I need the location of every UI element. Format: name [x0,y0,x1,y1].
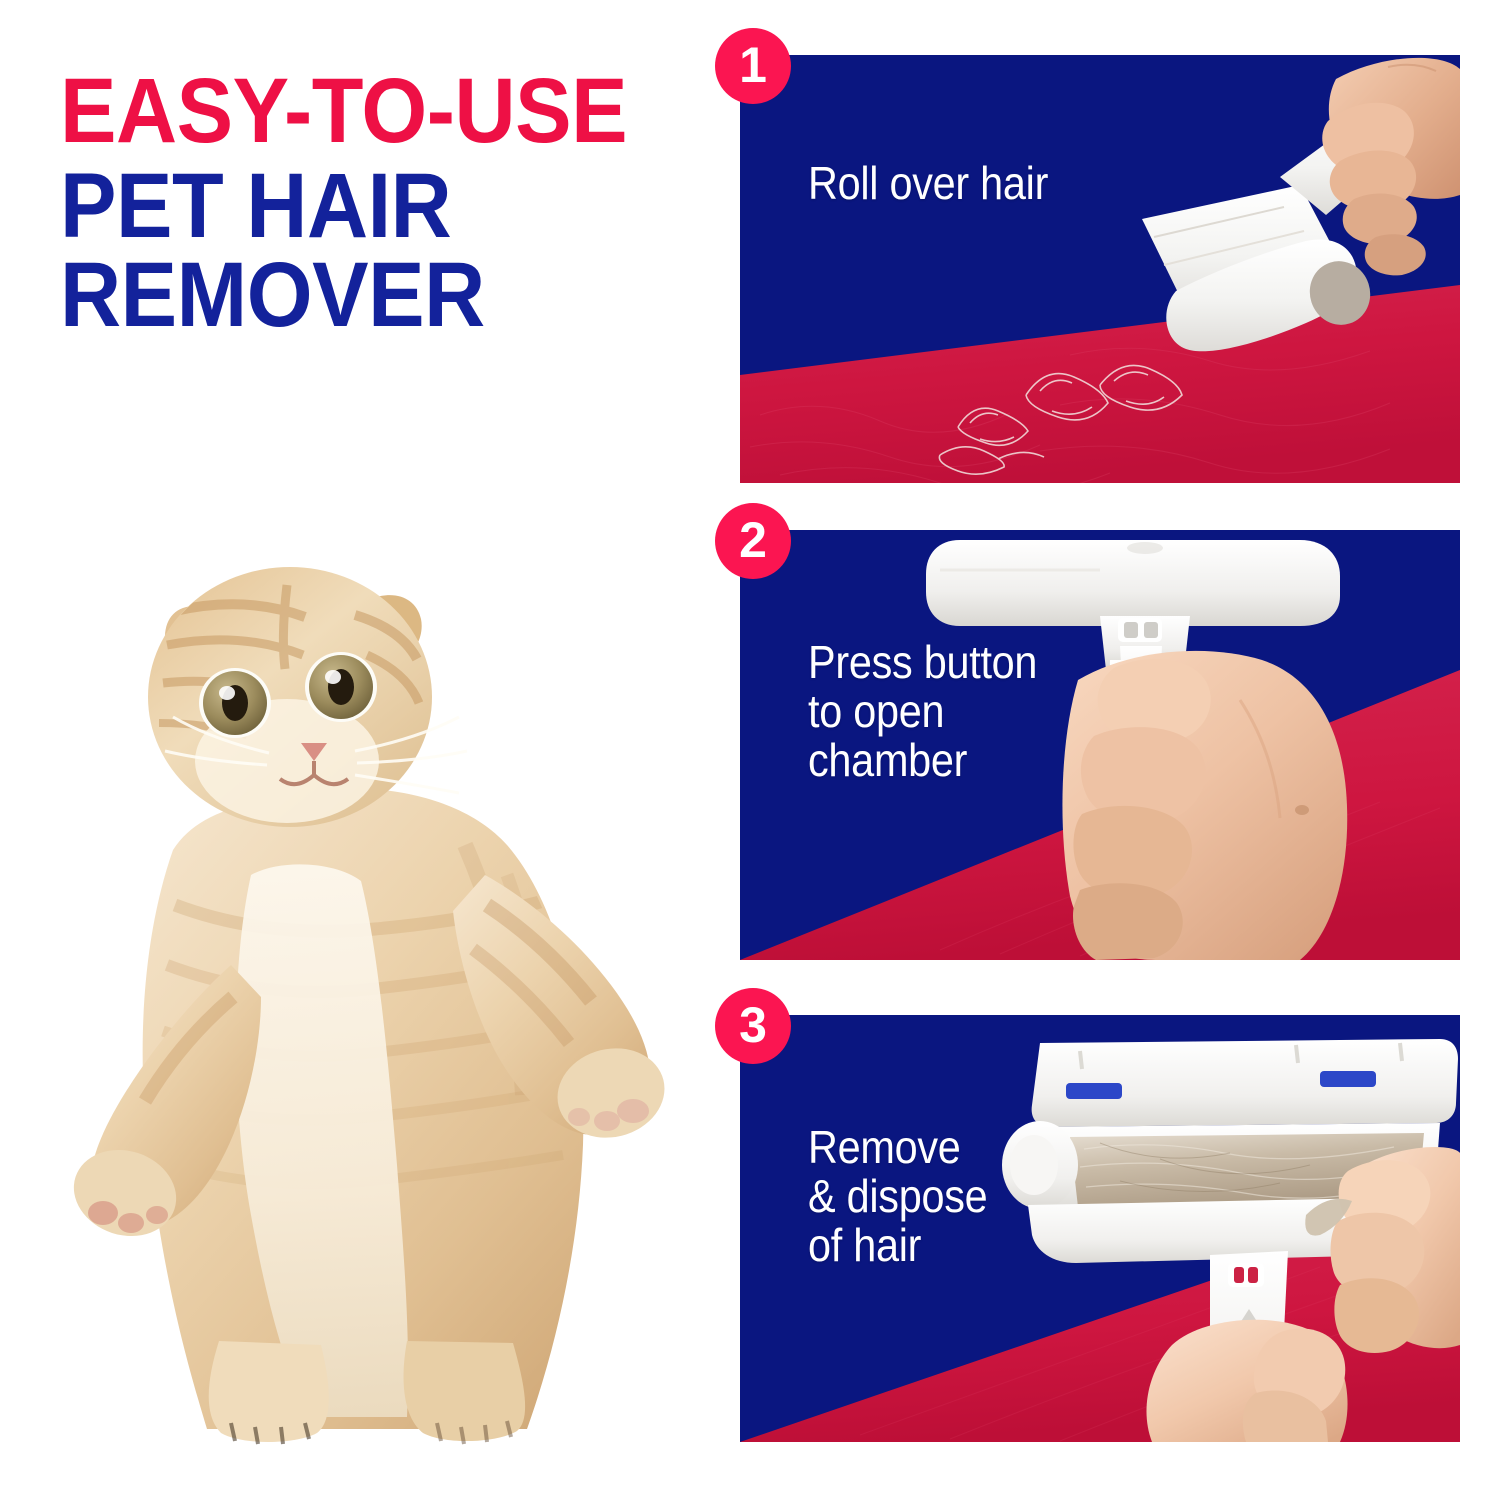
step-3-label: Remove & dispose of hair [808,1123,987,1269]
step-2-number-badge: 2 [715,503,791,579]
headline-line-easy-to-use: EASY-TO-USE [60,72,667,151]
chamber-lid-open-3 [1032,1039,1458,1127]
cat-head [148,567,467,827]
cat-illustration [55,545,675,1445]
step-3-number-badge: 3 [715,988,791,1064]
step-panel-2: 2 Press button to open chamber [740,530,1460,960]
step-2-label: Press button to open chamber [808,638,1037,784]
step-panel-1: 1 Roll over hair [740,55,1460,483]
page-title: EASY-TO-USE PET HAIR REMOVER [60,72,720,335]
step-1-artwork [740,55,1460,483]
headline-line-pet-hair: PET HAIR [60,167,667,246]
step-1-number-badge: 1 [715,28,791,104]
step-1-label: Roll over hair [808,159,1048,208]
step-1-photo [740,55,1460,483]
step-panel-3: 3 Remove & dispose of hair [740,1015,1460,1442]
hand-gripping-handle-2 [1062,651,1347,960]
hero-cat-image [55,545,675,1445]
infographic-canvas: EASY-TO-USE PET HAIR REMOVER [0,0,1500,1500]
headline-line-remover: REMOVER [60,256,667,335]
